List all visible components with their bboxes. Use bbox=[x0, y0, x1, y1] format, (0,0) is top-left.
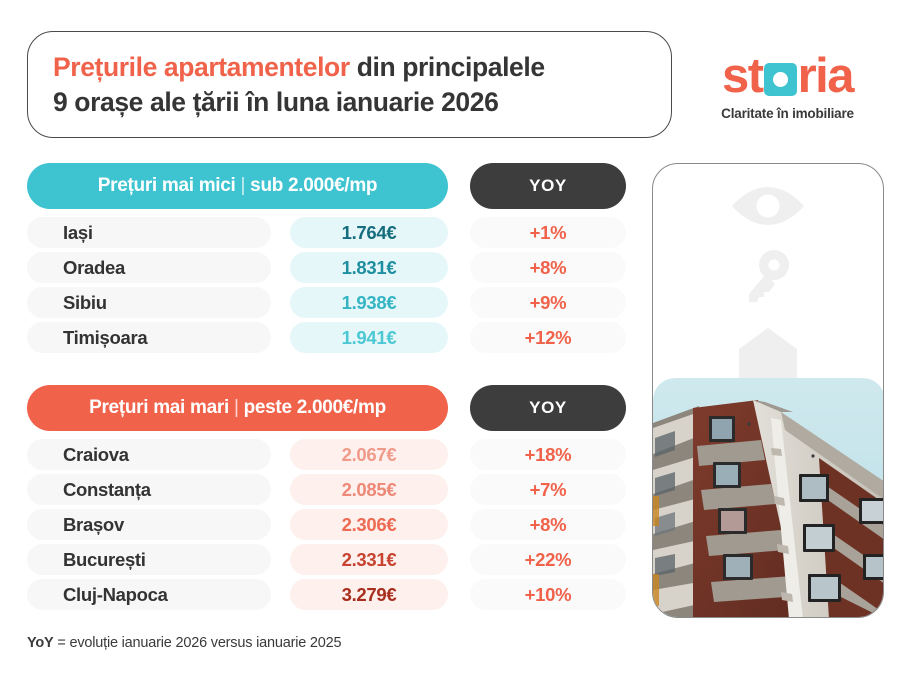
title-line2-text: 9 orașe ale țării în luna ianuarie 2026 bbox=[53, 87, 498, 117]
yoy-value: +9% bbox=[470, 287, 626, 318]
table-row: Sibiu 1.938€ +9% bbox=[0, 287, 640, 318]
logo-wordmark: st ria bbox=[722, 52, 853, 101]
yoy-value: +10% bbox=[470, 579, 626, 610]
yoy-value: +12% bbox=[470, 322, 626, 353]
heading-main-text: Prețuri mai mari bbox=[89, 397, 229, 419]
yoy-column-header-higher: YOY bbox=[470, 385, 626, 431]
title-rest-text: din principalele bbox=[350, 52, 545, 82]
table-row: Craiova 2.067€ +18% bbox=[0, 439, 640, 470]
section-higher-prices: Prețuri mai mari | peste 2.000€/mp YOY C… bbox=[0, 385, 640, 614]
city-name: Sibiu bbox=[27, 287, 271, 318]
table-row: Constanța 2.085€ +7% bbox=[0, 474, 640, 505]
heading-separator: | bbox=[234, 397, 239, 419]
right-illustration-panel bbox=[652, 163, 884, 618]
section-heading-pill-lower: Prețuri mai mici | sub 2.000€/mp bbox=[27, 163, 448, 209]
section-heading-pill-higher: Prețuri mai mari | peste 2.000€/mp bbox=[27, 385, 448, 431]
key-icon bbox=[742, 249, 794, 310]
price-value: 1.764€ bbox=[290, 217, 448, 248]
section-lower-prices: Prețuri mai mici | sub 2.000€/mp YOY Iaș… bbox=[0, 163, 640, 357]
price-value: 3.279€ bbox=[290, 579, 448, 610]
price-value: 2.331€ bbox=[290, 544, 448, 575]
page-title: Prețurile apartamentelor din principalel… bbox=[53, 50, 545, 120]
logo-tagline: Claritate în imobiliare bbox=[721, 106, 854, 121]
price-value: 2.306€ bbox=[290, 509, 448, 540]
heading-sub-text: peste 2.000€/mp bbox=[244, 397, 386, 419]
table-row: Oradea 1.831€ +8% bbox=[0, 252, 640, 283]
city-name: Oradea bbox=[27, 252, 271, 283]
heading-separator: | bbox=[241, 175, 246, 197]
logo-text-part2: ria bbox=[798, 52, 853, 101]
city-name: Cluj-Napoca bbox=[27, 579, 271, 610]
yoy-value: +1% bbox=[470, 217, 626, 248]
price-value: 1.938€ bbox=[290, 287, 448, 318]
yoy-value: +7% bbox=[470, 474, 626, 505]
footnote-text: = evoluție ianuarie 2026 versus ianuarie… bbox=[54, 635, 342, 651]
heading-main-text: Prețuri mai mici bbox=[98, 175, 236, 197]
yoy-value: +8% bbox=[470, 509, 626, 540]
table-row: Iași 1.764€ +1% bbox=[0, 217, 640, 248]
footnote-term: YoY bbox=[27, 635, 54, 651]
eye-icon bbox=[730, 184, 806, 233]
yoy-value: +8% bbox=[470, 252, 626, 283]
decorative-icon-stack bbox=[653, 184, 883, 387]
price-value: 1.941€ bbox=[290, 322, 448, 353]
price-value: 2.067€ bbox=[290, 439, 448, 470]
logo-text-part1: st bbox=[722, 52, 763, 101]
storia-logo: st ria Claritate în imobiliare bbox=[690, 40, 885, 132]
price-value: 2.085€ bbox=[290, 474, 448, 505]
table-row: Timișoara 1.941€ +12% bbox=[0, 322, 640, 353]
city-name: București bbox=[27, 544, 271, 575]
city-name: Timișoara bbox=[27, 322, 271, 353]
footnote: YoY = evoluție ianuarie 2026 versus ianu… bbox=[27, 635, 341, 651]
yoy-column-header-lower: YOY bbox=[470, 163, 626, 209]
yoy-value: +22% bbox=[470, 544, 626, 575]
city-name: Constanța bbox=[27, 474, 271, 505]
price-value: 1.831€ bbox=[290, 252, 448, 283]
title-accent-text: Prețurile apartamentelor bbox=[53, 52, 350, 82]
city-name: Iași bbox=[27, 217, 271, 248]
table-row: Brașov 2.306€ +8% bbox=[0, 509, 640, 540]
title-card: Prețurile apartamentelor din principalel… bbox=[27, 31, 672, 138]
heading-sub-text: sub 2.000€/mp bbox=[250, 175, 377, 197]
apartment-building-photo bbox=[653, 378, 884, 618]
table-row: Cluj-Napoca 3.279€ +10% bbox=[0, 579, 640, 610]
city-name: Brașov bbox=[27, 509, 271, 540]
yoy-value: +18% bbox=[470, 439, 626, 470]
section-header-row: Prețuri mai mici | sub 2.000€/mp YOY bbox=[0, 163, 640, 209]
city-name: Craiova bbox=[27, 439, 271, 470]
logo-o-mark-icon bbox=[764, 63, 797, 96]
section-header-row: Prețuri mai mari | peste 2.000€/mp YOY bbox=[0, 385, 640, 431]
table-row: București 2.331€ +22% bbox=[0, 544, 640, 575]
